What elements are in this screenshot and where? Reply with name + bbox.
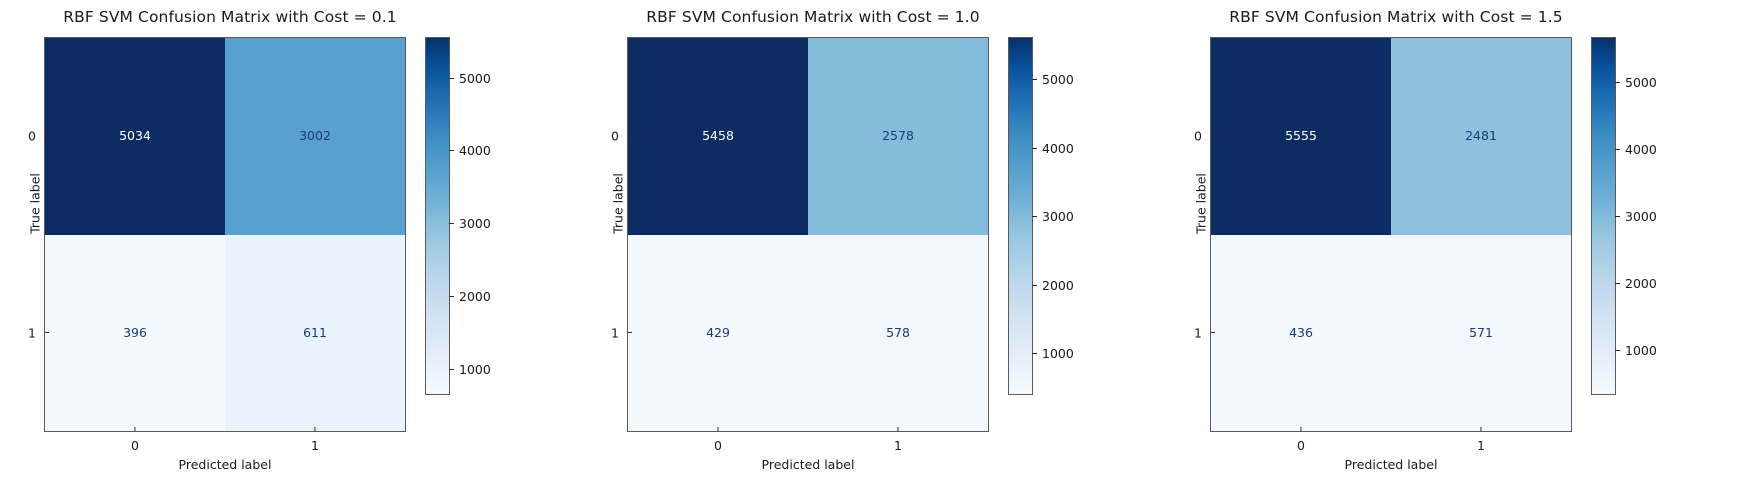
colorbar-tick-label: 4000 — [1620, 142, 1657, 157]
colorbar-gradient — [1009, 38, 1032, 394]
colorbar-tick-label: 5000 — [454, 71, 491, 86]
y-tick-mark — [45, 136, 49, 137]
colorbar-tick: 2000 — [1615, 275, 1657, 291]
colorbar-tick: 5000 — [449, 70, 491, 86]
panel-title: RBF SVM Confusion Matrix with Cost = 1.0 — [583, 8, 1043, 26]
cell-value: 578 — [886, 327, 910, 340]
cell-value: 611 — [303, 327, 327, 340]
heatmap-axes: 5034 3002 396 611 0 1 — [44, 37, 406, 432]
colorbar-tick-label: 2000 — [1620, 276, 1657, 291]
heatmap-cell-grid: 5034 3002 396 611 — [45, 38, 405, 431]
x-tick-mark — [314, 427, 315, 431]
heatmap-cell-1-0: 396 — [45, 235, 225, 432]
x-tick-mark — [1300, 427, 1301, 431]
colorbar-tick-label: 5000 — [1037, 72, 1074, 87]
colorbar-tick-label: 3000 — [1620, 209, 1657, 224]
y-tick-1: 1 — [588, 325, 628, 340]
x-tick-label: 1 — [1451, 431, 1511, 453]
x-axis-label: Predicted label — [627, 457, 989, 472]
y-tick-mark — [628, 136, 632, 137]
cell-value: 429 — [706, 327, 730, 340]
y-tick-label: 1 — [1194, 325, 1211, 340]
colorbar: 5000 4000 3000 2000 1000 — [1008, 37, 1033, 395]
cell-value: 571 — [1469, 327, 1493, 340]
x-axis-label: Predicted label — [44, 457, 406, 472]
colorbar: 5000 4000 3000 2000 1000 — [425, 37, 450, 395]
y-axis-label: True label — [28, 124, 43, 284]
colorbar-gradient — [426, 38, 449, 394]
colorbar-tick-label: 1000 — [454, 362, 491, 377]
cell-value: 396 — [123, 327, 147, 340]
y-tick-mark — [628, 332, 632, 333]
heatmap-cell-grid: 5458 2578 429 578 — [628, 38, 988, 431]
colorbar-gradient — [1592, 38, 1615, 394]
heatmap-cell-1-1: 611 — [225, 235, 405, 432]
colorbar-tick-label: 1000 — [1037, 346, 1074, 361]
cell-value: 5034 — [119, 130, 151, 143]
colorbar-tick: 2000 — [1032, 277, 1074, 293]
y-tick-1: 1 — [5, 325, 45, 340]
x-tick-0: 0 — [1271, 431, 1331, 453]
panel-cost-0-1: RBF SVM Confusion Matrix with Cost = 0.1… — [0, 0, 583, 495]
colorbar-tick: 2000 — [449, 288, 491, 304]
panel-title: RBF SVM Confusion Matrix with Cost = 1.5 — [1166, 8, 1626, 26]
x-tick-label: 1 — [868, 431, 928, 453]
cell-value: 2578 — [882, 130, 914, 143]
colorbar-tick-label: 2000 — [1037, 278, 1074, 293]
heatmap-axes: 5458 2578 429 578 0 1 — [627, 37, 989, 432]
x-tick-0: 0 — [688, 431, 748, 453]
heatmap-cell-1-1: 571 — [1391, 235, 1571, 432]
colorbar-tick-label: 3000 — [1037, 209, 1074, 224]
x-tick-label: 0 — [688, 431, 748, 453]
colorbar-tick: 5000 — [1615, 74, 1657, 90]
colorbar-tick: 3000 — [1032, 208, 1074, 224]
colorbar-tick-label: 4000 — [1037, 141, 1074, 156]
colorbar: 5000 4000 3000 2000 1000 — [1591, 37, 1616, 395]
panel-cost-1-0: RBF SVM Confusion Matrix with Cost = 1.0… — [583, 0, 1166, 495]
y-axis-label: True label — [611, 124, 626, 284]
x-tick-mark — [134, 427, 135, 431]
x-tick-mark — [1480, 427, 1481, 431]
x-axis-label: Predicted label — [1210, 457, 1572, 472]
cell-value: 3002 — [299, 130, 331, 143]
x-tick-1: 1 — [285, 431, 345, 453]
x-tick-label: 1 — [285, 431, 345, 453]
heatmap-cell-1-0: 436 — [1211, 235, 1391, 432]
colorbar-tick: 4000 — [449, 142, 491, 158]
cell-value: 2481 — [1465, 130, 1497, 143]
panel-cost-1-5: RBF SVM Confusion Matrix with Cost = 1.5… — [1166, 0, 1749, 495]
colorbar-tick-label: 2000 — [454, 289, 491, 304]
colorbar-tick-label: 5000 — [1620, 75, 1657, 90]
y-axis-label: True label — [1194, 124, 1209, 284]
y-tick-label: 1 — [28, 325, 45, 340]
colorbar-tick: 3000 — [449, 215, 491, 231]
x-tick-mark — [717, 427, 718, 431]
colorbar-tick: 4000 — [1615, 141, 1657, 157]
heatmap-cell-0-0: 5458 — [628, 38, 808, 235]
colorbar-tick-label: 1000 — [1620, 343, 1657, 358]
x-tick-mark — [897, 427, 898, 431]
heatmap-cell-0-0: 5555 — [1211, 38, 1391, 235]
y-tick-mark — [1211, 332, 1215, 333]
colorbar-tick: 1000 — [449, 361, 491, 377]
y-tick-label: 1 — [611, 325, 628, 340]
confusion-matrix-figure: RBF SVM Confusion Matrix with Cost = 0.1… — [0, 0, 1749, 495]
x-tick-label: 0 — [1271, 431, 1331, 453]
cell-value: 5458 — [702, 130, 734, 143]
panel-title: RBF SVM Confusion Matrix with Cost = 0.1 — [0, 8, 460, 26]
heatmap-cell-0-1: 2481 — [1391, 38, 1571, 235]
colorbar-tick-label: 4000 — [454, 143, 491, 158]
heatmap-cell-1-0: 429 — [628, 235, 808, 432]
y-tick-mark — [1211, 136, 1215, 137]
cell-value: 5555 — [1285, 130, 1317, 143]
colorbar-tick: 1000 — [1615, 342, 1657, 358]
colorbar-tick: 5000 — [1032, 71, 1074, 87]
x-tick-0: 0 — [105, 431, 165, 453]
y-tick-1: 1 — [1171, 325, 1211, 340]
colorbar-tick: 4000 — [1032, 140, 1074, 156]
y-tick-mark — [45, 332, 49, 333]
heatmap-cell-0-1: 3002 — [225, 38, 405, 235]
heatmap-cell-1-1: 578 — [808, 235, 988, 432]
colorbar-tick: 1000 — [1032, 345, 1074, 361]
cell-value: 436 — [1289, 327, 1313, 340]
x-tick-1: 1 — [868, 431, 928, 453]
heatmap-axes: 5555 2481 436 571 0 1 — [1210, 37, 1572, 432]
x-tick-1: 1 — [1451, 431, 1511, 453]
heatmap-cell-0-0: 5034 — [45, 38, 225, 235]
heatmap-cell-0-1: 2578 — [808, 38, 988, 235]
x-tick-label: 0 — [105, 431, 165, 453]
colorbar-tick-label: 3000 — [454, 216, 491, 231]
heatmap-cell-grid: 5555 2481 436 571 — [1211, 38, 1571, 431]
colorbar-tick: 3000 — [1615, 208, 1657, 224]
